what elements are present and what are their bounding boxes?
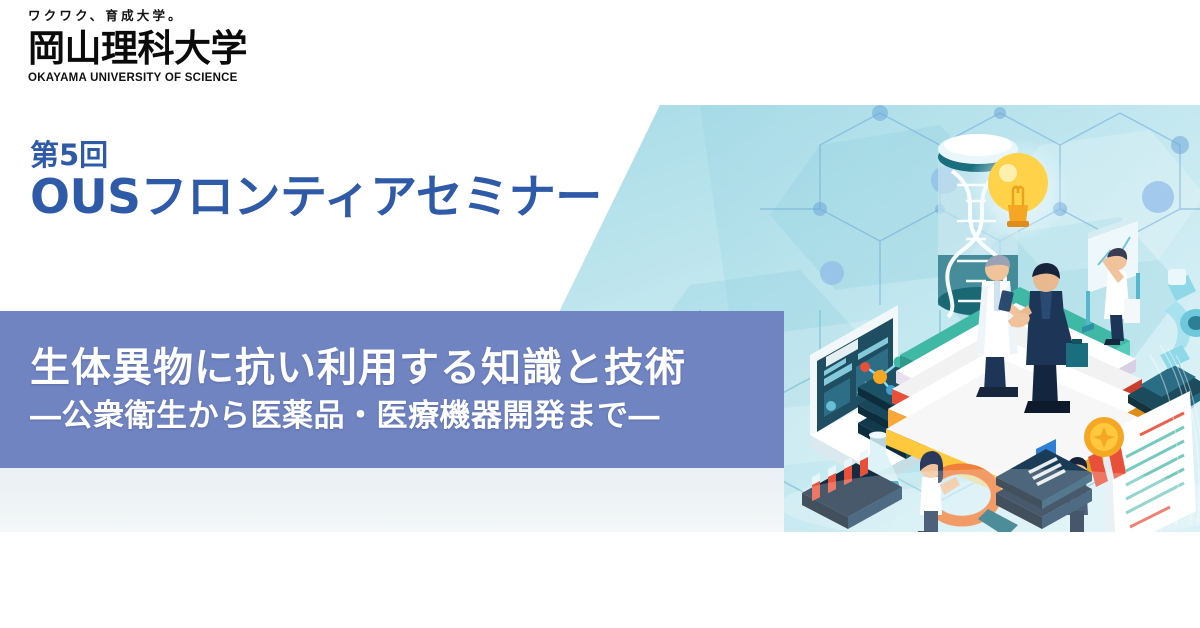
university-logo: ワクワク、育成大学。 岡山理科大学 OKAYAMA UNIVERSITY OF … [28, 10, 328, 85]
pale-band [0, 467, 784, 532]
logo-name-en: OKAYAMA UNIVERSITY OF SCIENCE [28, 73, 328, 85]
test-tube [860, 449, 868, 477]
page-title: OUSフロンティアセミナー [30, 173, 602, 224]
seminar-poster: ワクワク、育成大学。 岡山理科大学 OKAYAMA UNIVERSITY OF … [0, 0, 1200, 628]
headline-block: 第5回 OUSフロンティアセミナー [30, 140, 602, 224]
subtitle-banner: 生体異物に抗い利用する知識と技術 ―公衆衛生から医薬品・医療機器開発まで― [0, 311, 784, 468]
edition-label: 第5回 [30, 140, 602, 170]
lightbulb [966, 138, 1070, 242]
subtitle-sub: ―公衆衛生から医薬品・医療機器開発まで― [30, 398, 784, 435]
logo-name-ja: 岡山理科大学 [28, 29, 328, 69]
subtitle-main: 生体異物に抗い利用する知識と技術 [30, 344, 784, 391]
logo-tagline: ワクワク、育成大学。 [28, 10, 328, 23]
